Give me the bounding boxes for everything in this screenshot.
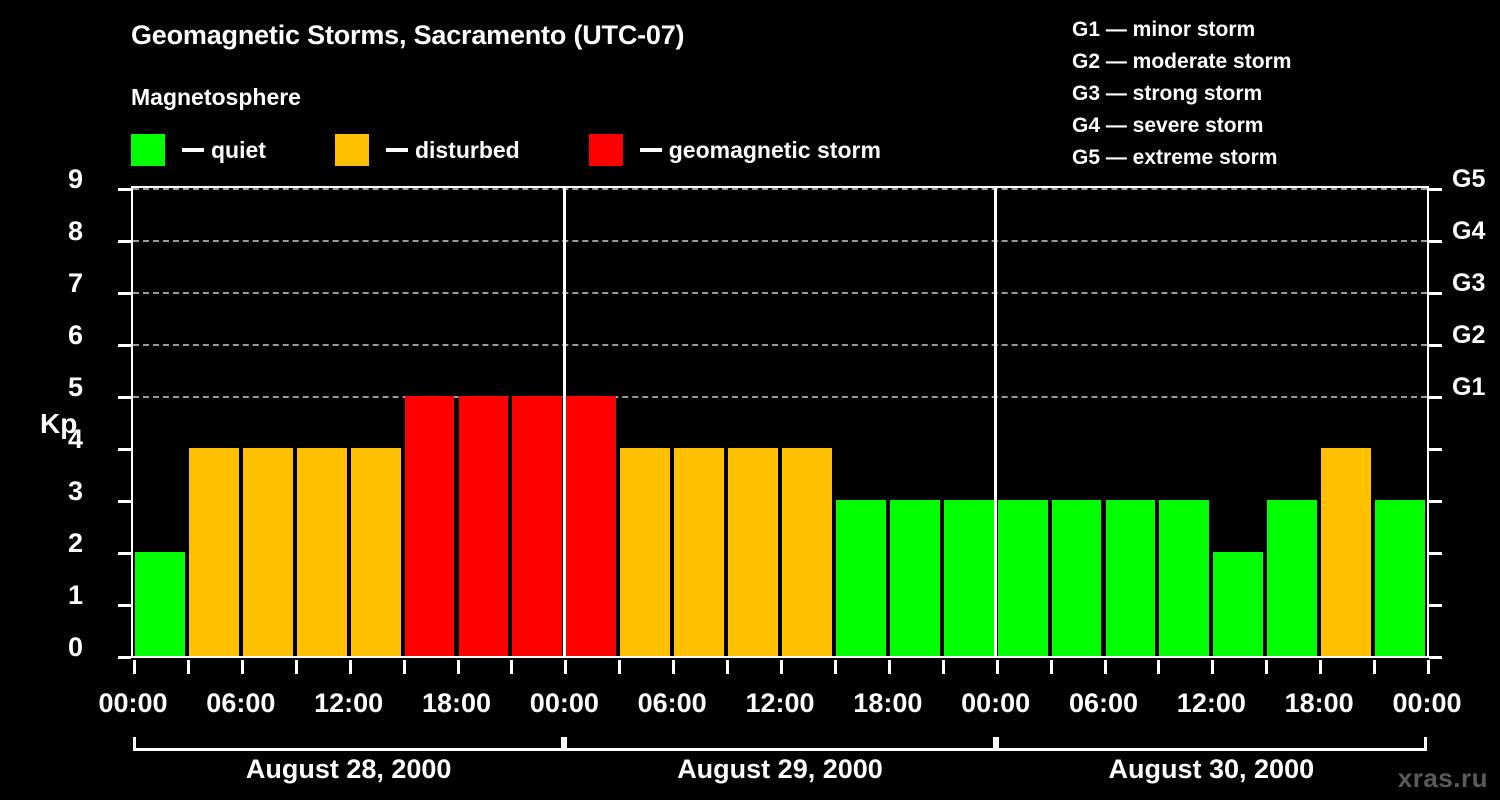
x-tick-18	[1104, 660, 1107, 674]
gridline-kp-8	[133, 240, 1427, 242]
bar	[944, 500, 994, 656]
x-tick-12	[780, 660, 783, 674]
disturbed-swatch	[335, 134, 369, 166]
bar	[297, 448, 347, 656]
x-tick-0	[133, 660, 136, 674]
watermark: xras.ru	[1398, 763, 1488, 794]
quiet-swatch	[131, 134, 165, 166]
gscale-line-g4: G4 — severe storm	[1072, 110, 1472, 142]
gridline-kp-7	[133, 292, 1427, 294]
day-label-3: August 30, 2000	[996, 754, 1427, 785]
legend-label: geomagnetic storm	[669, 137, 881, 164]
bar	[189, 448, 239, 656]
chart-subtitle: Magnetosphere	[131, 84, 301, 111]
x-tick-7	[510, 660, 513, 674]
bar	[1321, 448, 1371, 656]
legend-dash-icon	[386, 148, 408, 152]
x-tick-22	[1319, 660, 1322, 674]
g-scale-legend: G1 — minor stormG2 — moderate stormG3 — …	[1072, 14, 1472, 174]
bar	[1267, 500, 1317, 656]
day-bracket-3	[996, 737, 1427, 751]
gscale-line-g2: G2 — moderate storm	[1072, 46, 1472, 78]
bar	[1106, 500, 1156, 656]
x-tick-5	[403, 660, 406, 674]
color-legend: quietdisturbedgeomagnetic storm	[131, 133, 881, 167]
gridline-kp-5	[133, 396, 1427, 398]
day-separator-1	[563, 188, 566, 656]
y-tick-right-kp-1	[1429, 604, 1442, 607]
gscale-line-g1: G1 — minor storm	[1072, 14, 1472, 46]
bar	[728, 448, 778, 656]
plot-inner	[133, 188, 1427, 656]
legend-dash-icon	[182, 148, 204, 152]
geomagnetic-storm-chart: Geomagnetic Storms, Sacramento (UTC-07) …	[0, 0, 1500, 800]
y-tick-left-3	[118, 500, 131, 503]
x-tick-20	[1211, 660, 1214, 674]
bar	[512, 396, 562, 656]
y-tick-left-8	[118, 240, 131, 243]
gridline-kp-6	[133, 344, 1427, 346]
day-bracket-1	[133, 737, 564, 751]
x-tick-1	[187, 660, 190, 674]
y-tick-right-kp-7	[1429, 292, 1442, 295]
x-tick-19	[1157, 660, 1160, 674]
legend-dash-icon	[640, 148, 662, 152]
day-label-2: August 29, 2000	[564, 754, 995, 785]
day-separator-2	[994, 188, 997, 656]
y-tick-right-kp-3	[1429, 500, 1442, 503]
y-tick-right-kp-2	[1429, 552, 1442, 555]
y-tick-left-5	[118, 396, 131, 399]
plot-area	[131, 186, 1429, 658]
bar	[620, 448, 670, 656]
bar	[1375, 500, 1425, 656]
x-tick-9	[618, 660, 621, 674]
y-tick-left-7	[118, 292, 131, 295]
legend-label: disturbed	[415, 137, 520, 164]
day-label-1: August 28, 2000	[133, 754, 564, 785]
y-tick-left-4	[118, 448, 131, 451]
x-tick-3	[295, 660, 298, 674]
bar	[351, 448, 401, 656]
gscale-line-g3: G3 — strong storm	[1072, 78, 1472, 110]
bar	[782, 448, 832, 656]
x-tick-10	[672, 660, 675, 674]
y-tick-left-2	[118, 552, 131, 555]
y-tick-right-kp-9	[1429, 188, 1442, 191]
x-tick-15	[942, 660, 945, 674]
x-tick-16	[996, 660, 999, 674]
legend-item-quiet: quiet	[131, 133, 266, 167]
legend-item-disturbed: disturbed	[335, 133, 520, 167]
legend-label: quiet	[211, 137, 266, 164]
x-tick-23	[1373, 660, 1376, 674]
y-tick-right-kp-0	[1429, 656, 1442, 659]
x-axis-label-12: 00:00	[1357, 688, 1497, 719]
bar	[1052, 500, 1102, 656]
x-tick-14	[888, 660, 891, 674]
y-tick-left-9	[118, 188, 131, 191]
y-tick-right-kp-5	[1429, 396, 1442, 399]
y-tick-right-kp-4	[1429, 448, 1442, 451]
bar	[459, 396, 509, 656]
x-tick-17	[1050, 660, 1053, 674]
day-bracket-2	[564, 737, 995, 751]
x-tick-6	[457, 660, 460, 674]
x-tick-11	[726, 660, 729, 674]
gridline-kp-9	[133, 188, 1427, 190]
bar	[1213, 552, 1263, 656]
x-tick-8	[564, 660, 567, 674]
legend-item-geomagnetic-storm: geomagnetic storm	[589, 133, 881, 167]
x-tick-4	[349, 660, 352, 674]
bar	[405, 396, 455, 656]
x-tick-24	[1427, 660, 1430, 674]
y-tick-left-6	[118, 344, 131, 347]
x-tick-21	[1265, 660, 1268, 674]
y-tick-left-0	[118, 656, 131, 659]
bar	[243, 448, 293, 656]
y-tick-right-kp-8	[1429, 240, 1442, 243]
y-tick-right-kp-6	[1429, 344, 1442, 347]
gscale-line-g5: G5 — extreme storm	[1072, 142, 1472, 174]
y-tick-left-1	[118, 604, 131, 607]
bar	[998, 500, 1048, 656]
page-title: Geomagnetic Storms, Sacramento (UTC-07)	[131, 20, 684, 51]
bar	[566, 396, 616, 656]
storm-swatch	[589, 134, 623, 166]
bar	[674, 448, 724, 656]
bar	[135, 552, 185, 656]
bar	[1159, 500, 1209, 656]
bar	[890, 500, 940, 656]
x-tick-2	[241, 660, 244, 674]
bar	[836, 500, 886, 656]
x-tick-13	[834, 660, 837, 674]
